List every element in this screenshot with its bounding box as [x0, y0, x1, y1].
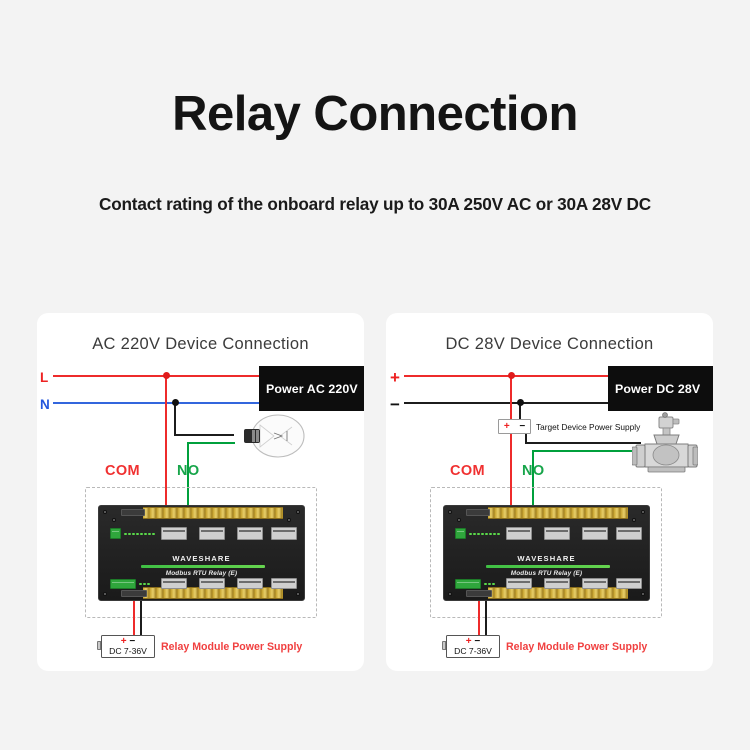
target-device-power-supply-label: Target Device Power Supply	[536, 422, 640, 432]
relay-terminal-com-dc: COM	[450, 463, 485, 479]
wire-no-to-valve-dc	[532, 450, 642, 452]
junction-positive-dc	[508, 372, 515, 379]
board-brand-dc: WAVESHARE	[444, 554, 649, 563]
wire-module-power-plus-dc	[478, 601, 480, 637]
screw-terminals-top-ac	[143, 507, 283, 519]
module-power-voltage-dc: DC 7-36V	[447, 647, 499, 656]
power-source-label-dc: Power DC 28V	[608, 366, 713, 411]
module-power-note-dc: Relay Module Power Supply	[506, 641, 647, 653]
power-source-label-ac: Power AC 220V	[259, 366, 364, 411]
terminal-label-negative-dc: −	[390, 396, 400, 413]
relay-board-dc: WAVESHARE Modbus RTU Relay (E)	[443, 505, 650, 601]
module-power-plug-dc: + − DC 7-36V	[446, 635, 500, 658]
diagram-ac-220v: L N Power AC 220V	[37, 313, 364, 671]
board-model-dc: Modbus RTU Relay (E)	[444, 570, 649, 577]
relay-terminal-no-dc: NO	[522, 463, 545, 479]
relay-board-ac: WAVESHARE Modbus RTU Relay (E)	[98, 505, 305, 601]
junction-live-ac	[163, 372, 170, 379]
terminal-label-neutral-ac: N	[40, 398, 50, 412]
diagram-dc-28v: + − Power DC 28V + − Target Device Power	[386, 313, 713, 671]
wire-no-to-bulb-ac	[187, 442, 235, 444]
board-model-ac: Modbus RTU Relay (E)	[99, 570, 304, 577]
page-subtitle: Contact rating of the onboard relay up t…	[0, 194, 750, 215]
wire-supply-to-valve-dc	[525, 442, 641, 444]
relay-terminal-com-ac: COM	[105, 463, 140, 479]
module-power-plug-ac: + − DC 7-36V	[101, 635, 155, 658]
target-supply-plus: +	[504, 422, 510, 432]
terminal-block-dc	[455, 528, 466, 539]
junction-negative-dc	[517, 399, 524, 406]
solenoid-valve-icon	[632, 411, 698, 479]
wire-neutral-drop-ac	[174, 402, 176, 436]
panel-ac-220v: AC 220V Device Connection L N Power AC 2…	[37, 313, 364, 671]
wire-neutral-to-bulb-ac	[174, 434, 234, 436]
wire-module-power-minus-dc	[485, 601, 487, 637]
junction-neutral-ac	[172, 399, 179, 406]
terminal-label-live-ac: L	[40, 371, 48, 385]
terminal-label-positive-dc: +	[390, 369, 400, 386]
target-device-power-supply-box: + −	[498, 419, 531, 434]
light-bulb-icon	[230, 414, 306, 458]
relay-terminal-no-ac: NO	[177, 463, 200, 479]
terminal-block-ac	[110, 528, 121, 539]
wire-module-power-minus-ac	[140, 601, 142, 637]
board-brand-ac: WAVESHARE	[99, 554, 304, 563]
module-power-voltage-ac: DC 7-36V	[102, 647, 154, 656]
module-power-note-ac: Relay Module Power Supply	[161, 641, 302, 653]
page-title: Relay Connection	[0, 86, 750, 142]
panel-dc-28v: DC 28V Device Connection + − Power DC 28…	[386, 313, 713, 671]
wire-module-power-plus-ac	[133, 601, 135, 637]
screw-terminals-top-dc	[488, 507, 628, 519]
target-supply-minus: −	[519, 422, 525, 432]
relay-connection-page: Relay Connection Contact rating of the o…	[0, 0, 750, 750]
